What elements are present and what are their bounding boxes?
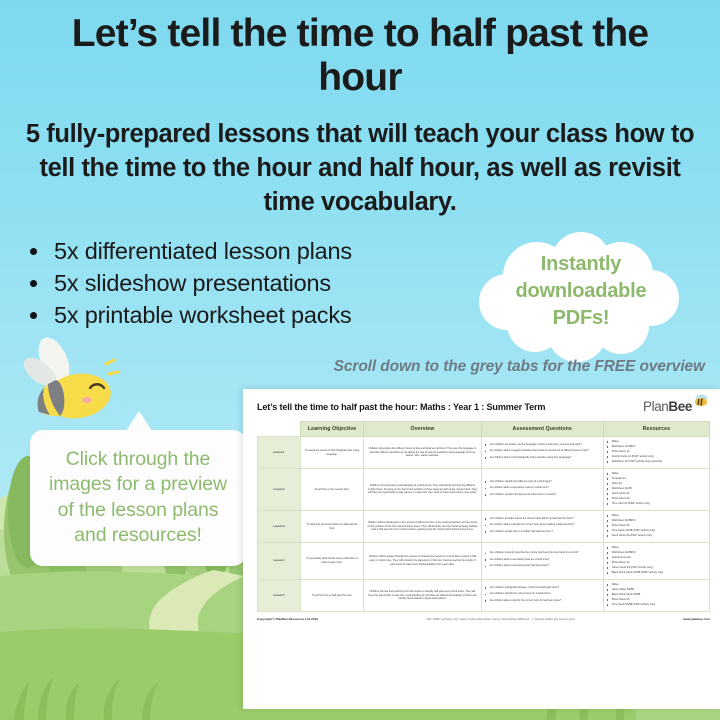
footer-website: www.planbee.com — [683, 617, 710, 621]
list-item: 5x slideshow presentations — [18, 268, 438, 300]
cell-overview: Children will be guided through the proc… — [364, 543, 482, 580]
lesson-label: Lesson 3 — [258, 511, 301, 543]
cell-assessment-questions: Can children accurately use the language… — [481, 437, 603, 469]
assessment-question-item: Can children distinguish between o’clock… — [485, 586, 600, 590]
resource-item: Worksheet 2A/2B — [607, 487, 706, 491]
table-body: Lesson 1To sequence events in chronologi… — [258, 437, 710, 612]
scroll-hint-text: Scroll down to the grey tabs for the FRE… — [255, 358, 705, 376]
resource-item: Clock Cards 2A — [607, 492, 706, 496]
promo-graphic: Let’s tell the time to half past the hou… — [0, 0, 720, 720]
assessment-question-item: Can children accurately use the language… — [485, 443, 600, 447]
speech-bubble-text: Click through the images for a preview o… — [30, 430, 246, 566]
cell-resources: SlidesWorksheet 3A/3B/3CPhoto Sheet 3ATi… — [603, 511, 709, 543]
list-item: 5x printable worksheet packs — [18, 300, 438, 332]
assessment-question-item: Can children correctly describe the minu… — [485, 551, 600, 555]
resource-item: Photo Sheet 3A — [607, 524, 706, 528]
document-header: Let’s tell the time to half past the hou… — [257, 398, 710, 416]
assessment-question-item: Can children identify the correct hour f… — [485, 592, 600, 596]
cell-overview: Children will revisit their understandin… — [364, 469, 482, 511]
lesson-label: Lesson 1 — [258, 437, 301, 469]
page-subtitle: 5 fully-prepared lessons that will teach… — [22, 118, 698, 220]
assessment-question-item: Are children able to accurately draw hal… — [485, 564, 600, 568]
column-header-assessment-questions: Assessment Questions — [481, 422, 603, 437]
brand-suffix: Bee — [668, 399, 692, 414]
cell-learning-objective: To tell time to the nearest hour. — [300, 469, 363, 511]
cloud-badge-text: Instantly downloadable PDFs! — [469, 251, 693, 333]
footer-note: NB: ‘FSD? activity only’ refers to the a… — [318, 617, 683, 621]
resource-item: Time Cards 5A/5B (FSD? activity only) — [607, 603, 706, 607]
table-header-row: Learning Objective Overview Assessment Q… — [258, 422, 710, 437]
table-corner-cell — [258, 422, 301, 437]
column-header-overview: Overview — [364, 422, 482, 437]
resource-item: Time Card 2A (FSD? activity only) — [607, 502, 706, 506]
resource-item: Activity Cards 1A (FSD? activity only) — [607, 455, 706, 459]
cell-resources: SlidesGame Slides 5A/5BBlank Clock Cards… — [603, 580, 709, 612]
assessment-question-item: Can children describe where the minute h… — [485, 517, 600, 521]
cloud-line-1: Instantly — [469, 251, 693, 278]
document-footer: Copyright © PlanBee Resources Ltd 2019 N… — [257, 617, 710, 621]
brand-prefix: Plan — [643, 399, 668, 414]
cell-assessment-questions: Can children distinguish between o’clock… — [481, 580, 603, 612]
resource-item: Clock Cards 3A (FSD? activity only) — [607, 534, 706, 538]
assessment-question-item: Can children identify the different part… — [485, 480, 600, 484]
planbee-logo: PlanBee — [643, 398, 710, 416]
bee-mascot-icon — [14, 336, 124, 434]
cell-overview: Children will use their learning from th… — [364, 580, 482, 612]
resource-item: Time Cards 3A/3B (FSD? activity only) — [607, 529, 706, 533]
column-header-resources: Resources — [603, 422, 709, 437]
column-header-learning-objective: Learning Objective — [300, 422, 363, 437]
resource-item: Slides — [607, 546, 706, 550]
resource-item: Worksheet 4A/4B/4C — [607, 551, 706, 555]
cell-resources: SlidesTemplate 2ASplit pinsWorksheet 2A/… — [603, 469, 709, 511]
cell-learning-objective: To tell the time to half past the hour. — [300, 580, 363, 612]
table-row: Lesson 3To read and say times which are … — [258, 511, 710, 543]
lesson-plan-table: Learning Objective Overview Assessment Q… — [257, 421, 710, 612]
cell-learning-objective: To accurately draw hands onto a clock fa… — [300, 543, 363, 580]
table-row: Lesson 4To accurately draw hands onto a … — [258, 543, 710, 580]
resource-item: Colourful pencils — [607, 556, 706, 560]
lesson-overview-document[interactable]: Let’s tell the time to half past the hou… — [243, 389, 720, 709]
cell-assessment-questions: Can children identify the different part… — [481, 469, 603, 511]
table-row: Lesson 1To sequence events in chronologi… — [258, 437, 710, 469]
table-row: Lesson 5To tell the time to half past th… — [258, 580, 710, 612]
cell-learning-objective: To sequence events in chronological orde… — [300, 437, 363, 469]
resource-item: Photo Sheet 1A — [607, 450, 706, 454]
cloud-line-2: downloadable — [469, 278, 693, 305]
resource-item: Worksheet 1A/1B/1C — [607, 445, 706, 449]
cell-overview: Children will explore the different time… — [364, 437, 482, 469]
assessment-question-item: Can children explain how they know what … — [485, 493, 600, 497]
cell-resources: SlidesWorksheet 4A/4B/4CColourful pencil… — [603, 543, 709, 580]
assessment-question-item: Are children able to chronologically ord… — [485, 456, 600, 460]
list-item: 5x differentiated lesson plans — [18, 236, 438, 268]
resource-item: Worksheet 3A/3B/3C — [607, 519, 706, 523]
footer-copyright: Copyright © PlanBee Resources Ltd 2019 — [257, 617, 318, 621]
resource-item: Photo Sheet 2A — [607, 497, 706, 501]
lesson-label: Lesson 4 — [258, 543, 301, 580]
cell-resources: SlidesWorksheet 1A/1B/1CPhoto Sheet 1AAc… — [603, 437, 709, 469]
resource-item: Photo Sheet 4A — [607, 561, 706, 565]
resource-item: Slides — [607, 440, 706, 444]
feature-list: 5x differentiated lesson plans 5x slides… — [18, 236, 438, 332]
resource-item: Slides — [607, 472, 706, 476]
resource-item: Split pins — [607, 482, 706, 486]
cell-assessment-questions: Can children correctly describe the minu… — [481, 543, 603, 580]
resource-item: Slides — [607, 583, 706, 587]
speech-bubble: Click through the images for a preview o… — [30, 430, 246, 566]
page-title: Let’s tell the time to half past the hou… — [34, 12, 686, 99]
assessment-question-item: Are children able to accurately read an … — [485, 486, 600, 490]
resource-item: Game Cards 4A (FSD? activity only) — [607, 566, 706, 570]
speech-bubble-tail — [126, 411, 152, 431]
assessment-question-item: Can children explain why it is called ‘h… — [485, 530, 600, 534]
resource-item: Blank Clock Cards 4A/4B (FSD? activity o… — [607, 571, 706, 575]
lesson-label: Lesson 5 — [258, 580, 301, 612]
assessment-question-item: Are children able to identify the correc… — [485, 523, 600, 527]
resource-item: Photo Sheet 5A — [607, 598, 706, 602]
resource-item: Slides — [607, 514, 706, 518]
lesson-label: Lesson 2 — [258, 469, 301, 511]
cloud-badge: Instantly downloadable PDFs! — [469, 232, 693, 366]
resource-item: Game Slides 5A/5B — [607, 588, 706, 592]
resource-item: Worksheet 1D (FSD? activity only) (optio… — [607, 460, 706, 464]
cell-learning-objective: To read and say times which are half pas… — [300, 511, 363, 543]
assessment-question-item: Are children able to identify the correc… — [485, 599, 600, 603]
document-title: Let’s tell the time to half past the hou… — [257, 398, 545, 412]
cell-assessment-questions: Can children describe where the minute h… — [481, 511, 603, 543]
cell-overview: Children will be introduced to the conce… — [364, 511, 482, 543]
logo-bee-icon — [692, 394, 710, 413]
resource-item: Template 2A — [607, 477, 706, 481]
cloud-line-3: PDFs! — [469, 305, 693, 332]
table-row: Lesson 2To tell time to the nearest hour… — [258, 469, 710, 511]
assessment-question-item: Are children able to suggest activities … — [485, 449, 600, 453]
assessment-question-item: Are children able to accurately draw an … — [485, 558, 600, 562]
resource-item: Blank Clock Cards 5A/5B — [607, 593, 706, 597]
